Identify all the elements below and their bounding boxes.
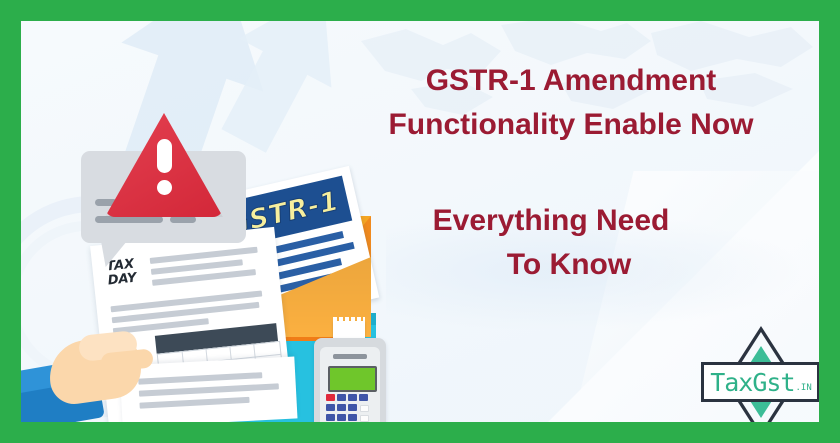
doc-text-line [139, 397, 249, 409]
logo-wordmark: TaxGst [710, 370, 794, 395]
keypad-key-red [326, 394, 335, 401]
banner-subheadline: Everything Need To Know [321, 199, 781, 287]
keypad-key [348, 404, 357, 411]
taxgst-logo[interactable]: TaxGst.IN [700, 324, 819, 422]
pos-terminal-screen [328, 366, 377, 392]
pos-terminal-printer-slot [333, 354, 367, 359]
doc-text-line [138, 372, 262, 384]
keypad-key [359, 394, 368, 401]
warning-exclamation-dot [157, 180, 172, 195]
keypad-key-white [360, 415, 369, 422]
logo-tld: .IN [796, 383, 812, 393]
keypad-key [348, 394, 357, 401]
logo-wordmark-band: TaxGst.IN [701, 362, 819, 402]
banner-canvas: GSTR-1 TAX DAY [21, 21, 819, 422]
headline-line-2: Functionality Enable Now [321, 103, 819, 147]
bubble-text-line [170, 216, 196, 223]
keypad-key-white [360, 405, 369, 412]
keypad-key [337, 414, 346, 421]
keypad-key [337, 404, 346, 411]
doc-text-line [139, 383, 279, 396]
subheadline-line-2: To Know [321, 243, 781, 287]
subheadline-line-1: Everything Need [321, 199, 781, 243]
keypad-key [337, 394, 346, 401]
banner-headline: GSTR-1 Amendment Functionality Enable No… [321, 59, 819, 147]
headline-line-1: GSTR-1 Amendment [321, 59, 819, 103]
tax-day-title: TAX DAY [106, 258, 138, 289]
keypad-key [326, 404, 335, 411]
tax-day-title-line2: DAY [107, 272, 137, 289]
keypad-key [348, 414, 357, 421]
pos-terminal-keypad [326, 394, 376, 422]
banner: GSTR-1 TAX DAY [0, 0, 840, 443]
keypad-key [326, 414, 335, 421]
warning-exclamation-stem [157, 139, 172, 173]
bubble-text-line [95, 216, 163, 223]
